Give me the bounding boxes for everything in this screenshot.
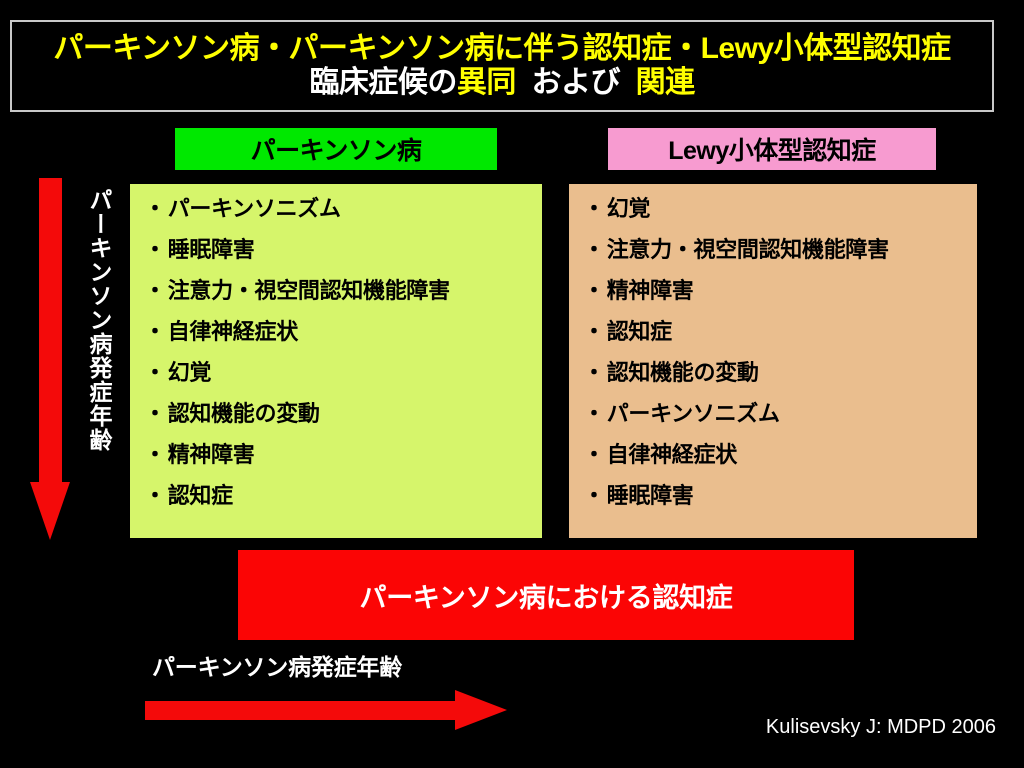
title-segment-and-word: および (532, 66, 621, 99)
list-item-label: 幻覚 (607, 196, 650, 221)
arrow-head (455, 690, 507, 730)
bullet-icon: ・ (583, 280, 605, 302)
horizontal-right-arrow-icon (145, 690, 507, 730)
list-item: ・幻覚 (583, 198, 977, 220)
list-item: ・認知症 (144, 485, 542, 507)
slide-title-frame: パーキンソン病・パーキンソン病に伴う認知症・Lewy小体型認知症 臨床症候の異同… (10, 20, 994, 112)
list-item: ・自律神経症状 (583, 444, 977, 466)
bullet-icon: ・ (144, 239, 166, 261)
bullet-icon: ・ (144, 198, 166, 220)
title-segment-relation: 関連 (636, 66, 695, 99)
column-header-parkinsons-disease: パーキンソン病 (175, 128, 497, 170)
list-item-label: 自律神経症状 (607, 442, 737, 467)
bullet-icon: ・ (583, 198, 605, 220)
title-segment-differences: 異同 (457, 66, 516, 99)
list-item-label: 認知症 (168, 483, 233, 508)
title-segment-spacer (620, 66, 636, 99)
list-item-label: 自律神経症状 (168, 319, 298, 344)
arrow-shaft (39, 178, 62, 484)
list-item: ・自律神経症状 (144, 321, 542, 343)
list-item: ・認知機能の変動 (583, 362, 977, 384)
bullet-icon: ・ (144, 280, 166, 302)
bullet-icon: ・ (144, 485, 166, 507)
slide-canvas: パーキンソン病・パーキンソン病に伴う認知症・Lewy小体型認知症 臨床症候の異同… (0, 0, 1024, 768)
bullet-icon: ・ (583, 239, 605, 261)
list-item: ・認知症 (583, 321, 977, 343)
list-item-label: 認知症 (607, 319, 672, 344)
bullet-icon: ・ (583, 444, 605, 466)
horizontal-axis-label: パーキンソン病発症年齢 (152, 648, 402, 682)
list-item-label: 注意力・視空間認知機能障害 (607, 237, 889, 262)
vertical-axis-label: パーキンソン病発症年齢 (76, 188, 110, 518)
list-item-label: 睡眠障害 (168, 237, 255, 262)
slide-title-line-2: 臨床症候の異同 および 関連 (309, 67, 694, 99)
title-segment-and (516, 66, 532, 99)
arrow-head (30, 482, 70, 540)
bullet-icon: ・ (144, 321, 166, 343)
vertical-down-arrow-icon (30, 178, 70, 540)
list-item: ・睡眠障害 (583, 485, 977, 507)
list-item-label: 精神障害 (168, 442, 255, 467)
bullet-icon: ・ (583, 485, 605, 507)
bullet-icon: ・ (144, 362, 166, 384)
list-item: ・睡眠障害 (144, 239, 542, 261)
citation-text: Kulisevsky J: MDPD 2006 (766, 716, 996, 739)
list-item: ・認知機能の変動 (144, 403, 542, 425)
list-item-label: 注意力・視空間認知機能障害 (168, 278, 450, 303)
list-item: ・幻覚 (144, 362, 542, 384)
symptom-box-lewy-body-dementia: ・幻覚 ・注意力・視空間認知機能障害 ・精神障害 ・認知症 ・認知機能の変動 ・… (569, 184, 977, 538)
list-item-label: 認知機能の変動 (607, 360, 759, 385)
list-item: ・パーキンソニズム (144, 198, 542, 220)
list-item-label: 精神障害 (607, 278, 694, 303)
list-item: ・パーキンソニズム (583, 403, 977, 425)
column-header-lewy-body-dementia: Lewy小体型認知症 (608, 128, 936, 170)
bullet-icon: ・ (583, 403, 605, 425)
symptom-box-parkinsons-disease: ・パーキンソニズム ・睡眠障害 ・注意力・視空間認知機能障害 ・自律神経症状 ・… (130, 184, 542, 538)
list-item-label: パーキンソニズム (607, 401, 780, 426)
list-item-label: 睡眠障害 (607, 483, 694, 508)
bullet-icon: ・ (144, 444, 166, 466)
bullet-icon: ・ (583, 362, 605, 384)
bullet-icon: ・ (583, 321, 605, 343)
list-item: ・精神障害 (144, 444, 542, 466)
list-item: ・注意力・視空間認知機能障害 (583, 239, 977, 261)
list-item: ・精神障害 (583, 280, 977, 302)
bullet-icon: ・ (144, 403, 166, 425)
list-item-label: 認知機能の変動 (168, 401, 320, 426)
list-item-label: 幻覚 (168, 360, 211, 385)
list-item-label: パーキンソニズム (168, 196, 341, 221)
red-banner-pd-dementia: パーキンソン病における認知症 (238, 550, 854, 640)
arrow-shaft (145, 701, 457, 720)
list-item: ・注意力・視空間認知機能障害 (144, 280, 542, 302)
title-segment-clinical-symptoms: 臨床症候の (309, 66, 457, 99)
slide-title-line-1: パーキンソン病・パーキンソン病に伴う認知症・Lewy小体型認知症 (53, 33, 950, 65)
